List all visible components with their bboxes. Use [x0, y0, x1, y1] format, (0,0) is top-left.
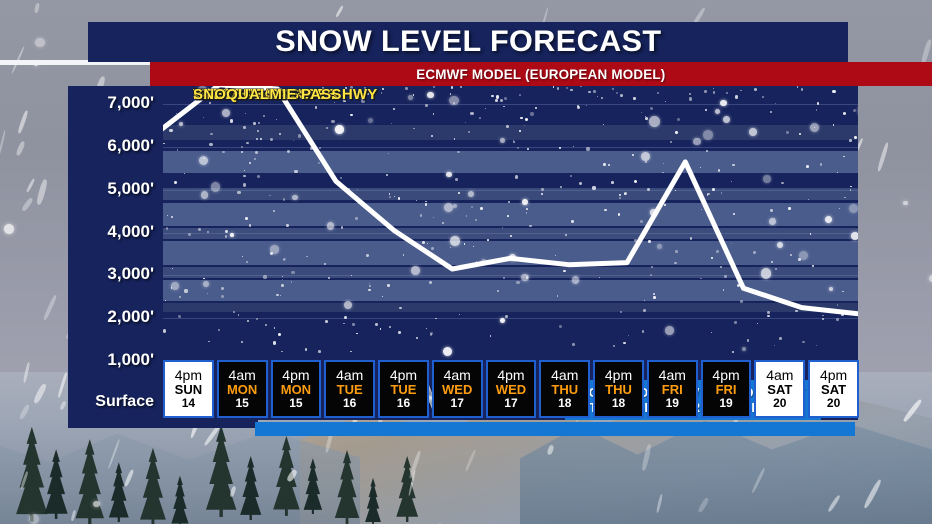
time-cell-date: 17 — [451, 397, 464, 410]
time-cell-day: MON — [281, 383, 311, 397]
time-cell-date: 17 — [504, 397, 517, 410]
time-cell-day: TUE — [337, 383, 363, 397]
time-axis-cell[interactable]: 4pmSAT20 — [808, 360, 859, 418]
time-cell-date: 15 — [289, 397, 302, 410]
conifer-tree — [70, 439, 110, 524]
time-cell-day: FRI — [716, 383, 737, 397]
time-cell-day: THU — [551, 383, 578, 397]
time-cell-date: 16 — [343, 397, 356, 410]
y-axis-tick: 2,000' — [107, 307, 154, 327]
time-cell-hour: 4am — [444, 368, 471, 383]
pass-label: SNOQUALMIE PASS — [193, 86, 342, 103]
time-cell-date: 18 — [558, 397, 571, 410]
conifer-tree — [168, 476, 192, 524]
time-cell-date: 20 — [773, 397, 786, 410]
time-cell-date: 18 — [612, 397, 625, 410]
time-cell-day: SAT — [767, 383, 792, 397]
time-cell-date: 16 — [397, 397, 410, 410]
snowflake — [35, 38, 44, 47]
time-axis-cell[interactable]: 4amWED17 — [432, 360, 483, 418]
time-cell-date: 19 — [666, 397, 679, 410]
time-axis-cell[interactable]: 4amTHU18 — [539, 360, 590, 418]
title-bar: SNOW LEVEL FORECAST — [88, 22, 848, 62]
time-cell-date: 14 — [182, 397, 195, 410]
conifer-tree — [330, 450, 364, 524]
time-axis-cell[interactable]: 4amSAT20 — [754, 360, 805, 418]
time-cell-hour: 4pm — [282, 368, 309, 383]
time-axis-cell[interactable]: 4amFRI19 — [647, 360, 698, 418]
time-cell-hour: 4am — [659, 368, 686, 383]
time-cell-hour: 4pm — [497, 368, 524, 383]
time-cell-day: SAT — [821, 383, 846, 397]
snowflake — [4, 224, 14, 234]
y-axis-tick: 4,000' — [107, 222, 154, 242]
axis-navy-strip — [68, 420, 258, 428]
y-axis-tick: 5,000' — [107, 179, 154, 199]
y-axis-tick: 1,000' — [107, 350, 154, 370]
time-cell-hour: 4pm — [712, 368, 739, 383]
time-cell-hour: 4pm — [390, 368, 417, 383]
time-cell-day: MON — [227, 383, 257, 397]
snowflake — [93, 501, 99, 507]
time-cell-date: 15 — [235, 397, 248, 410]
time-cell-day: WED — [442, 383, 472, 397]
time-cell-hour: 4am — [766, 368, 793, 383]
time-cell-day: THU — [605, 383, 632, 397]
model-subtitle: ECMWF MODEL (EUROPEAN MODEL) — [416, 66, 665, 82]
time-cell-date: 19 — [719, 397, 732, 410]
time-axis-cell[interactable]: 4amMON15 — [217, 360, 268, 418]
time-axis-cell[interactable]: 4pmTUE16 — [378, 360, 429, 418]
time-axis-cell[interactable]: 4pmFRI19 — [701, 360, 752, 418]
time-axis-cell[interactable]: 4pmMON15 — [271, 360, 322, 418]
time-cell-hour: 4pm — [605, 368, 632, 383]
time-cell-hour: 4am — [551, 368, 578, 383]
conifer-tree — [392, 456, 422, 522]
conifer-tree — [135, 448, 171, 524]
y-axis-tick: 7,000' — [107, 93, 154, 113]
time-cell-hour: 4am — [336, 368, 363, 383]
time-cell-day: FRI — [662, 383, 683, 397]
y-axis-tick: 3,000' — [107, 264, 154, 284]
time-cell-day: TUE — [390, 383, 416, 397]
time-axis: 4pmSUN144amMON154pmMON154amTUE164pmTUE16… — [163, 360, 859, 418]
conifer-tree — [236, 456, 265, 520]
time-axis-cell[interactable]: 4pmTHU18 — [593, 360, 644, 418]
y-axis-tick: 6,000' — [107, 136, 154, 156]
conifer-tree — [362, 478, 384, 524]
page-title: SNOW LEVEL FORECAST — [275, 25, 661, 59]
time-axis-cell[interactable]: 4amTUE16 — [324, 360, 375, 418]
time-axis-cell[interactable]: 4pmSUN14 — [163, 360, 214, 418]
conifer-tree — [105, 462, 133, 522]
subtitle-bar: ECMWF MODEL (EUROPEAN MODEL) — [150, 62, 932, 86]
time-axis-cell[interactable]: 4pmWED17 — [486, 360, 537, 418]
time-cell-hour: 4am — [229, 368, 256, 383]
time-cell-day: SUN — [175, 383, 202, 397]
snowflake — [903, 201, 908, 206]
y-axis-tick: Surface — [95, 393, 154, 411]
snowflake — [929, 275, 932, 282]
y-axis: 7,000'6,000'5,000'4,000'3,000'2,000'1,00… — [68, 86, 162, 420]
conifer-tree — [300, 458, 326, 514]
conifer-tree — [268, 436, 305, 516]
time-cell-day: WED — [496, 383, 526, 397]
time-cell-hour: 4pm — [820, 368, 847, 383]
time-cell-date: 20 — [827, 397, 840, 410]
time-cell-hour: 4pm — [175, 368, 202, 383]
axis-blue-bar — [255, 422, 855, 436]
snow-level-line — [163, 86, 858, 314]
